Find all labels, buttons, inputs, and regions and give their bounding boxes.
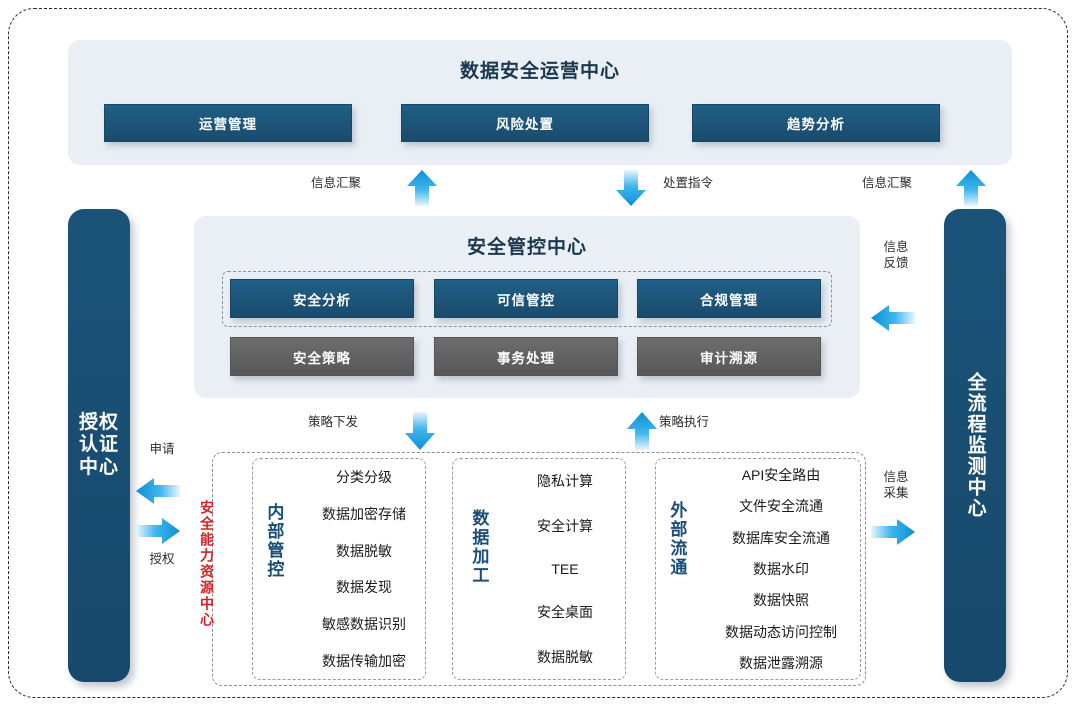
capability-group-title: 数据加工 — [469, 509, 488, 625]
left-pillar-label: 授权 认证 中心 — [79, 412, 119, 479]
capability-item: 数据动态访问控制 — [725, 622, 837, 642]
capability-item: 数据脱敏 — [336, 541, 392, 561]
label-policy-dispatch: 策略下发 — [295, 415, 371, 431]
button-risk-disposal[interactable]: 风险处置 — [401, 104, 649, 142]
capability-item: API安全路由 — [742, 465, 821, 485]
button-compliance-management[interactable]: 合规管理 — [637, 279, 821, 318]
arrow-right-authorize — [136, 518, 180, 544]
capability-item: 数据传输加密 — [322, 651, 406, 671]
arrow-left-apply — [136, 478, 180, 504]
capability-group-internal-control[interactable]: 内部管控 分类分级 数据加密存储 数据脱敏 数据发现 敏感数据识别 数据传输加密 — [252, 458, 426, 680]
button-label: 事务处理 — [497, 347, 555, 367]
capability-item: TEE — [551, 561, 578, 577]
arrow-left-info-feedback — [871, 305, 915, 331]
capability-group-external-circulation[interactable]: 外部流通 API安全路由 文件安全流通 数据库安全流通 数据水印 数据快照 数据… — [655, 458, 861, 680]
button-label: 合规管理 — [700, 289, 758, 309]
arrow-right-info-collect — [871, 519, 915, 545]
label-authorize: 授权 — [132, 552, 192, 568]
button-label: 安全策略 — [293, 347, 351, 367]
left-pillar-auth-center[interactable]: 授权 认证 中心 — [68, 209, 130, 682]
capability-item: 分类分级 — [336, 467, 392, 487]
capability-item-list: API安全路由 文件安全流通 数据库安全流通 数据水印 数据快照 数据动态访问控… — [700, 459, 862, 679]
right-pillar-monitoring-center[interactable]: 全流程监测中心 — [944, 209, 1006, 682]
arrow-up-info-aggregate-right — [956, 170, 986, 206]
button-label: 审计溯源 — [700, 347, 758, 367]
capability-item-list: 分类分级 数据加密存储 数据脱敏 数据发现 敏感数据识别 数据传输加密 — [301, 459, 427, 679]
arrow-up-info-aggregate-left — [407, 170, 437, 206]
label-info-collect: 信息 采集 — [868, 470, 924, 501]
capability-group-data-processing[interactable]: 数据加工 隐私计算 安全计算 TEE 安全桌面 数据脱敏 — [452, 458, 626, 680]
capability-item: 安全计算 — [537, 516, 593, 536]
capability-group-title: 外部流通 — [667, 501, 686, 633]
right-pillar-label: 全流程监测中心 — [964, 371, 985, 521]
capability-center-side-label: 安全能力资源中心 — [200, 500, 214, 648]
button-label: 可信管控 — [497, 289, 555, 309]
button-security-analysis[interactable]: 安全分析 — [230, 279, 414, 318]
button-label: 趋势分析 — [787, 113, 845, 133]
button-trend-analysis[interactable]: 趋势分析 — [692, 104, 940, 142]
button-security-policy[interactable]: 安全策略 — [230, 337, 414, 376]
capability-item: 数据发现 — [336, 577, 392, 597]
button-operation-management[interactable]: 运营管理 — [104, 104, 352, 142]
capability-item-list: 隐私计算 安全计算 TEE 安全桌面 数据脱敏 — [503, 459, 627, 679]
button-label: 安全分析 — [293, 289, 351, 309]
button-label: 风险处置 — [496, 113, 554, 133]
diagram-canvas: 数据安全运营中心 运营管理 风险处置 趋势分析 信息汇聚 处置指令 信息汇聚 — [0, 0, 1080, 714]
capability-item: 隐私计算 — [537, 471, 593, 491]
operation-center-title: 数据安全运营中心 — [68, 56, 1012, 83]
label-dispose-command: 处置指令 — [650, 176, 726, 192]
arrow-down-dispose-command — [616, 170, 646, 206]
capability-item: 数据库安全流通 — [732, 528, 830, 548]
button-transaction-processing[interactable]: 事务处理 — [434, 337, 618, 376]
capability-item: 数据水印 — [753, 559, 809, 579]
label-info-aggregate-right: 信息汇聚 — [849, 176, 925, 192]
control-center-title: 安全管控中心 — [194, 232, 860, 259]
capability-item: 文件安全流通 — [739, 496, 823, 516]
capability-item: 数据脱敏 — [537, 647, 593, 667]
capability-item: 数据快照 — [753, 590, 809, 610]
capability-item: 安全桌面 — [537, 602, 593, 622]
label-policy-execute: 策略执行 — [646, 415, 722, 431]
button-trusted-control[interactable]: 可信管控 — [434, 279, 618, 318]
capability-item: 敏感数据识别 — [322, 614, 406, 634]
label-apply: 申请 — [132, 442, 192, 458]
operation-center-panel: 数据安全运营中心 — [68, 40, 1012, 165]
arrow-down-policy-dispatch — [405, 412, 435, 450]
button-label: 运营管理 — [199, 113, 257, 133]
button-audit-traceability[interactable]: 审计溯源 — [637, 337, 821, 376]
label-info-feedback: 信息 反馈 — [868, 240, 924, 271]
capability-group-title: 内部管控 — [264, 503, 283, 631]
capability-item: 数据泄露溯源 — [739, 653, 823, 673]
label-info-aggregate-left: 信息汇聚 — [298, 176, 374, 192]
capability-item: 数据加密存储 — [322, 504, 406, 524]
